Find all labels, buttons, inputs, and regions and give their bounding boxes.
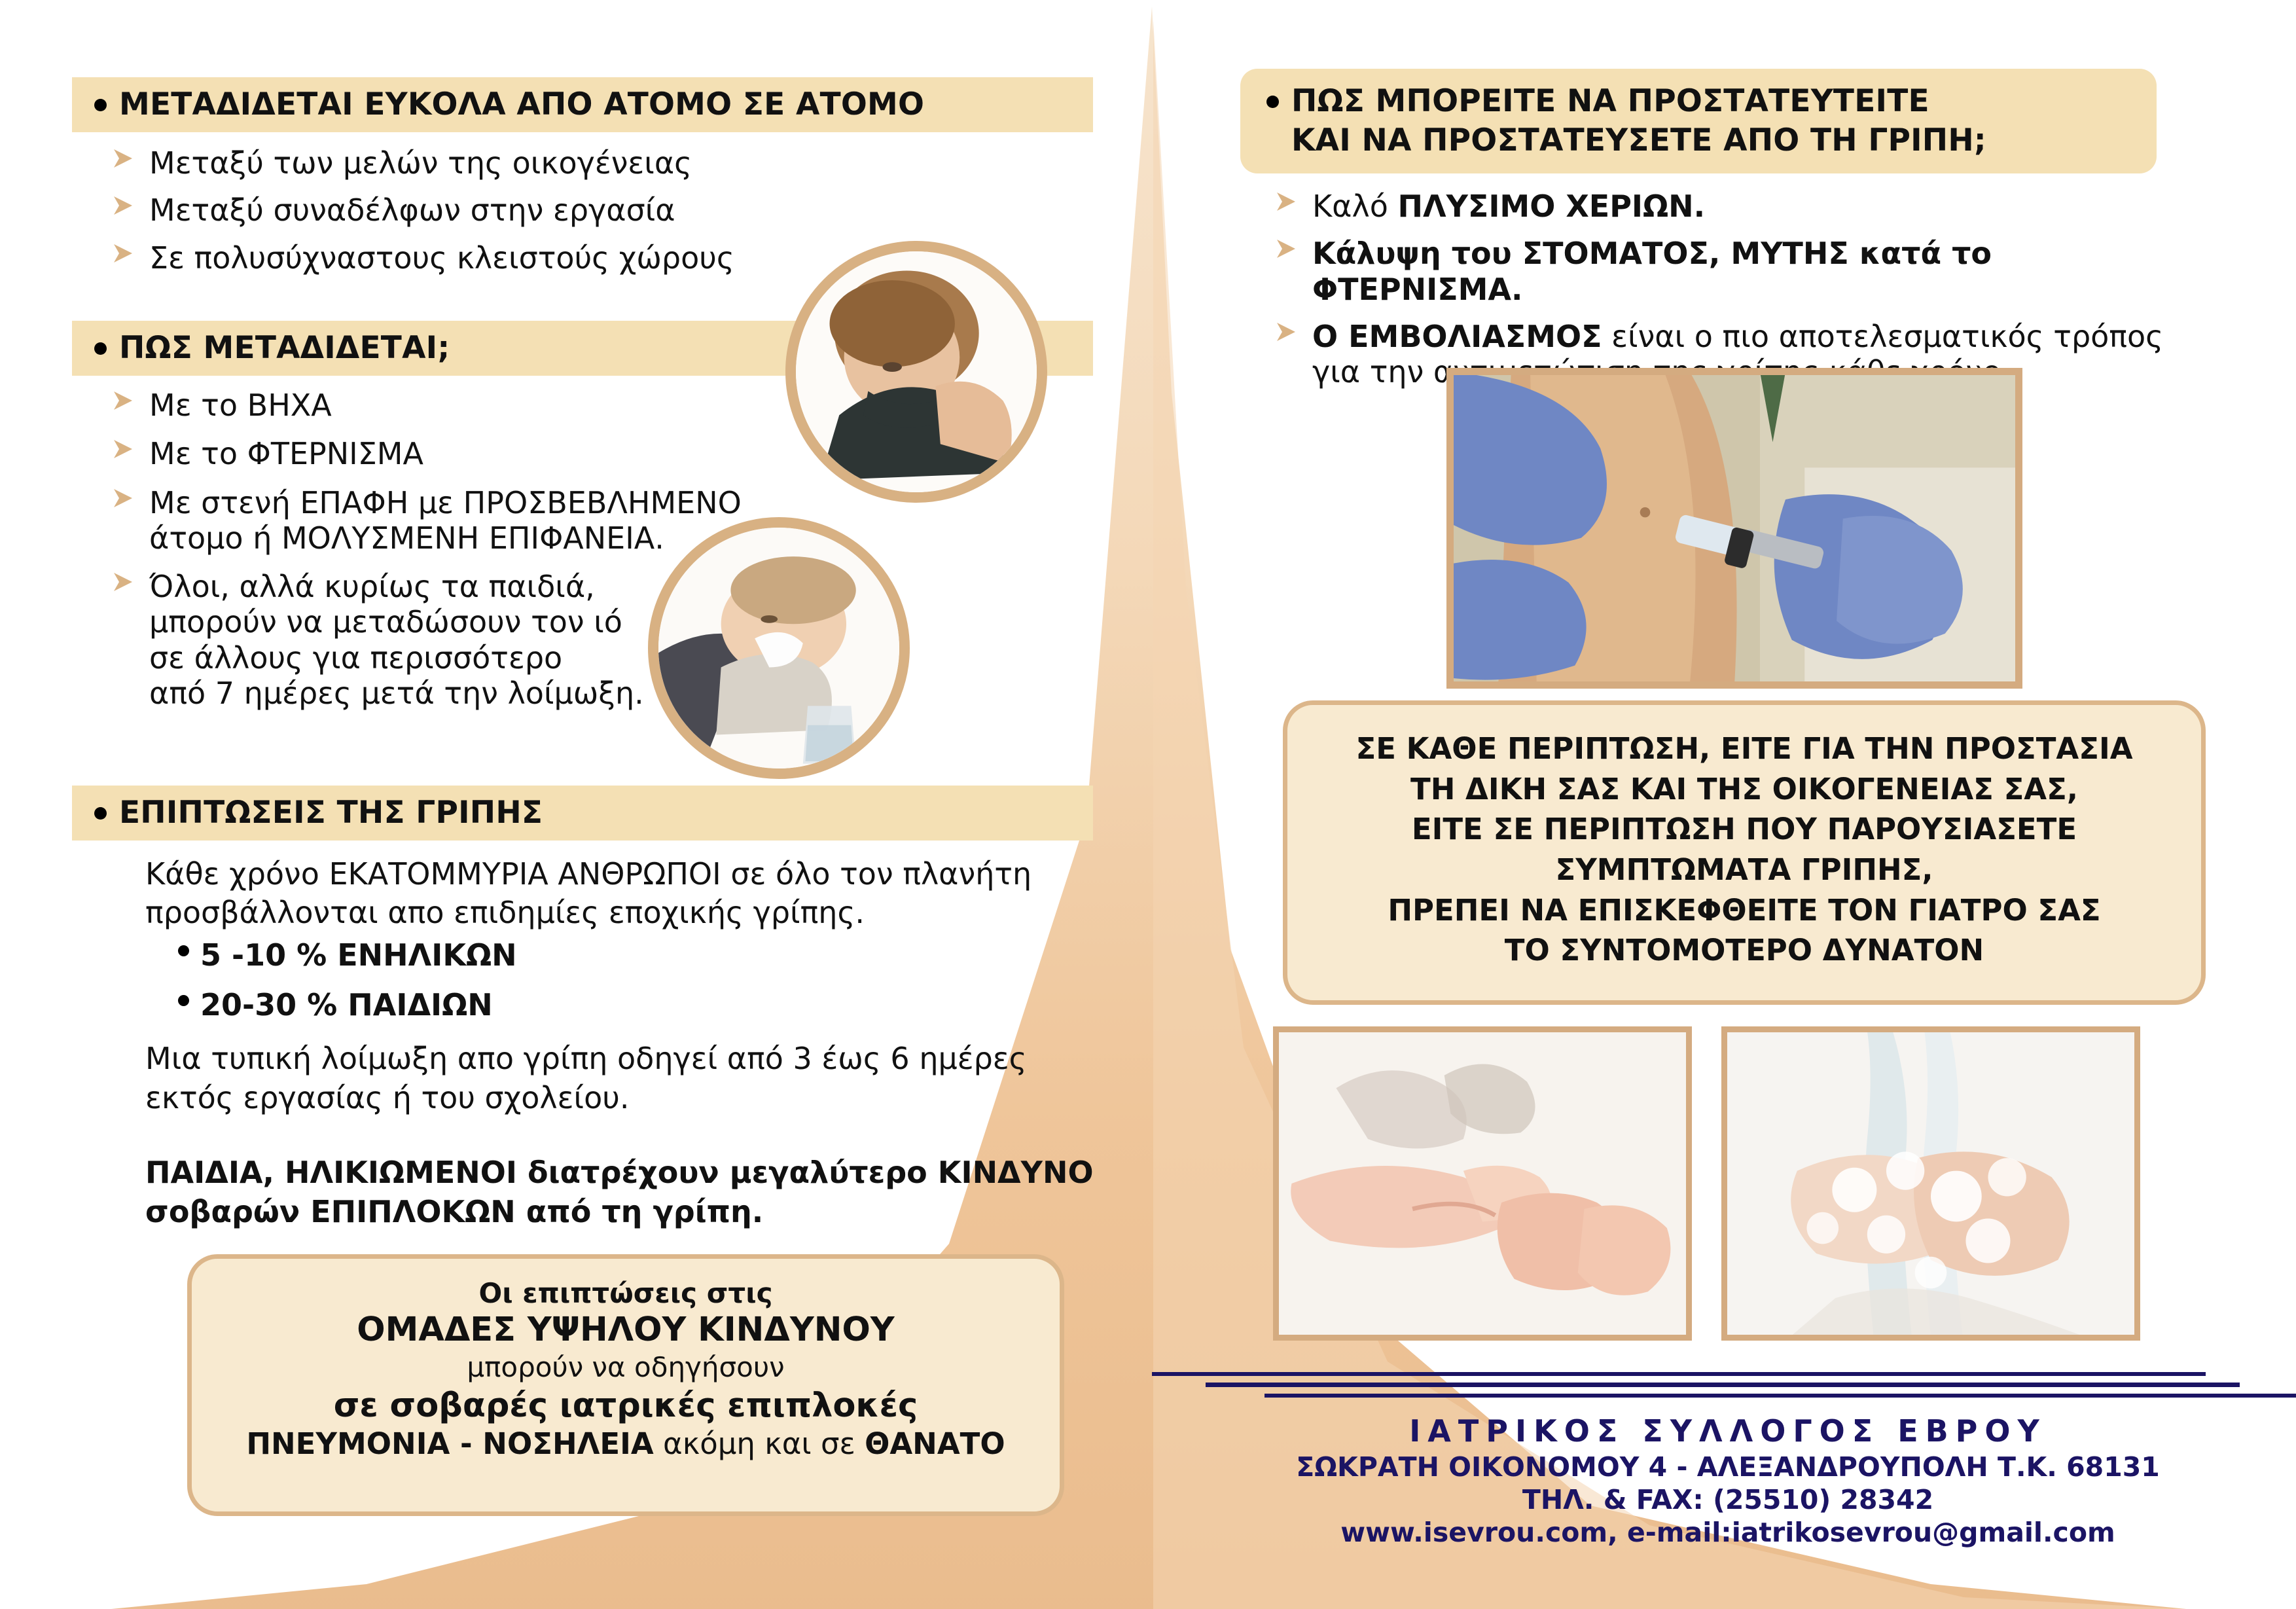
left-column: ΜΕΤΑΔΙΔΕΤΑΙ ΕΥΚΟΛΑ ΑΠΟ ΑΤΟΜΟ ΣΕ ΑΤΟΜΟ Με…	[0, 0, 1152, 1609]
section-header-protection-line-2: ΚΑΙ ΝΑ ΠΡΟΣΤΑΤΕΥΣΕΤΕ ΑΠΟ ΤΗ ΓΡΙΠΗ;	[1291, 122, 1986, 158]
list-item-label: Μεταξύ των μελών της οικογένειας	[149, 145, 692, 181]
risk-box-line-3: μπορούν να οδηγήσουν	[211, 1350, 1040, 1385]
arrow-bullet-icon	[110, 436, 136, 462]
advice-callout-box: ΣΕ ΚΑΘΕ ΠΕΡΙΠΤΩΣΗ, ΕΙΤΕ ΓΙΑ ΤΗΝ ΠΡΟΣΤΑΣΙ…	[1283, 700, 2206, 1005]
list-item-label: Όλοι, αλλά κυρίως τα παιδιά, μπορούν να …	[149, 569, 644, 711]
advice-line-3: ΕΙΤΕ ΣΕ ΠΕΡΙΠΤΩΣΗ ΠΟΥ ΠΑΡΟΥΣΙΑΣΕΤΕ	[1303, 809, 2185, 850]
bullet-dot-icon	[94, 99, 107, 111]
footer-rule-bottom	[1265, 1394, 2296, 1398]
risk-box-line-4: σε σοβαρές ιατρικές επιπλοκές	[211, 1385, 1040, 1426]
list-item: Με το ΒΗΧΑ	[110, 388, 882, 423]
sick-woman-photo	[648, 517, 910, 779]
washing-hands-photo	[1721, 1026, 2140, 1341]
impact-paragraph-2: Μια τυπική λοίμωξη απο γρίπη οδηγεί από …	[145, 1040, 1081, 1118]
footer-contact-block: ΙΑΤΡΙΚΟΣ ΣΥΛΛΟΓΟΣ ΕΒΡΟΥ ΣΩΚΡΑΤΗ ΟΙΚΟΝΟΜΟ…	[1191, 1413, 2265, 1549]
arrow-bullet-icon	[1273, 319, 1299, 345]
transmission-bullet-list: Μεταξύ των μελών της οικογένειας Μεταξύ …	[110, 145, 961, 276]
risk-box-line-5: ΠΝΕΥΜΟΝΙΑ - ΝΟΣΗΛΕΙΑ ακόμη και σε ΘΑΝΑΤΟ	[211, 1426, 1040, 1462]
advice-line-4: ΣΥΜΠΤΩΜΑΤΑ ΓΡΙΠΗΣ,	[1303, 850, 2185, 890]
hands-reaching-photo	[1273, 1026, 1692, 1341]
cough-photo	[785, 241, 1047, 503]
organization-address: ΣΩΚΡΑΤΗ ΟΙΚΟΝΟΜΟΥ 4 - ΑΛΕΞΑΝΔΡΟΥΠΟΛΗ Τ.Κ…	[1191, 1451, 2265, 1483]
impact-stat-children-label: 20-30 % ΠΑΙΔΙΩΝ	[200, 987, 493, 1022]
section-header-impact-label: ΕΠΙΠΤΩΣΕΙΣ ΤΗΣ ΓΡΙΠΗΣ	[119, 797, 543, 829]
risk-box-line-2: ΟΜΑΔΕΣ ΥΨΗΛΟΥ ΚΙΝΔΥΝΟΥ	[211, 1310, 1040, 1350]
bullet-dot-icon	[94, 807, 107, 820]
organization-phone: ΤΗΛ. & FAX: (25510) 28342	[1191, 1483, 2265, 1516]
bullet-dot-icon	[178, 995, 189, 1006]
bullet-dot-icon	[94, 342, 107, 355]
advice-line-1: ΣΕ ΚΑΘΕ ΠΕΡΙΠΤΩΣΗ, ΕΙΤΕ ΓΙΑ ΤΗΝ ΠΡΟΣΤΑΣΙ…	[1303, 729, 2185, 769]
impact-paragraph-1: Κάθε χρόνο ΕΚΑΤΟΜΜΥΡΙΑ ΑΝΘΡΩΠΟΙ σε όλο τ…	[145, 855, 1081, 932]
list-item-label: Μεταξύ συναδέλφων στην εργασία	[149, 192, 675, 228]
cough-photo-image	[796, 251, 1037, 492]
list-item-label-bold: ΠΛΥΣΙΜΟ ΧΕΡΙΩΝ.	[1397, 189, 1705, 224]
right-column: ΠΩΣ ΜΠΟΡΕΙΤΕ ΝΑ ΠΡΟΣΤΑΤΕΥΤΕΙΤΕ ΚΑΙ ΝΑ ΠΡ…	[1152, 0, 2296, 1609]
risk-box-line-1: Οι επιπτώσεις στις	[211, 1277, 1040, 1310]
hands-reaching-photo-image	[1279, 1032, 1686, 1335]
section-header-protection-line-1: ΠΩΣ ΜΠΟΡΕΙΤΕ ΝΑ ΠΡΟΣΤΑΤΕΥΤΕΙΤΕ	[1291, 85, 1929, 118]
list-item: Μεταξύ συναδέλφων στην εργασία	[110, 192, 961, 228]
section-header-impact: ΕΠΙΠΤΩΣΕΙΣ ΤΗΣ ΓΡΙΠΗΣ	[72, 786, 1093, 841]
arrow-bullet-icon	[110, 192, 136, 219]
impact-stat-adults: 5 -10 % ΕΝΗΛΙΚΩΝ	[178, 937, 517, 973]
organization-web[interactable]: www.isevrou.com, e-mail:iatrikosevrou@gm…	[1191, 1516, 2265, 1549]
organization-name: ΙΑΤΡΙΚΟΣ ΣΥΛΛΟΓΟΣ ΕΒΡΟΥ	[1191, 1413, 2265, 1451]
high-risk-callout-box: Οι επιπτώσεις στις ΟΜΑΔΕΣ ΥΨΗΛΟΥ ΚΙΝΔΥΝΟ…	[187, 1254, 1064, 1516]
impact-paragraph-3: ΠΑΙΔΙΑ, ΗΛΙΚΙΩΜΕΝΟΙ διατρέχουν μεγαλύτερ…	[145, 1153, 1101, 1232]
advice-line-2: ΤΗ ΔΙΚΗ ΣΑΣ ΚΑΙ ΤΗΣ ΟΙΚΟΓΕΝΕΙΑΣ ΣΑΣ,	[1303, 769, 2185, 810]
washing-hands-photo-image	[1727, 1032, 2134, 1335]
risk-box-line-5-mid: ακόμη και σε	[654, 1426, 865, 1461]
list-item: Καλό ΠΛΥΣΙΜΟ ΧΕΡΙΩΝ.	[1273, 189, 2209, 224]
section-header-protection: ΠΩΣ ΜΠΟΡΕΙΤΕ ΝΑ ΠΡΟΣΤΑΤΕΥΤΕΙΤΕ ΚΑΙ ΝΑ ΠΡ…	[1240, 69, 2157, 173]
arrow-bullet-icon	[1273, 236, 1299, 262]
advice-line-6: ΤΟ ΣΥΝΤΟΜΟΤΕΡΟ ΔΥΝΑΤΟΝ	[1303, 930, 2185, 971]
list-item-label: Με στενή ΕΠΑΦΗ με ΠΡΟΣΒΕΒΛΗΜΕΝΟ άτομο ή …	[149, 485, 742, 556]
list-item: Μεταξύ των μελών της οικογένειας	[110, 145, 961, 181]
footer-divider	[1152, 1372, 2296, 1396]
footer-rule-top	[1152, 1372, 2206, 1376]
arrow-bullet-icon	[110, 240, 136, 266]
list-item-label: Με το ΦΤΕΡΝΙΣΜΑ	[149, 436, 423, 471]
arrow-bullet-icon	[110, 485, 136, 511]
section-header-how-transmitted-label: ΠΩΣ ΜΕΤΑΔΙΔΕΤΑΙ;	[119, 332, 450, 365]
impact-stat-adults-label: 5 -10 % ΕΝΗΛΙΚΩΝ	[200, 937, 517, 973]
list-item: Με το ΦΤΕΡΝΙΣΜΑ	[110, 436, 882, 471]
impact-stat-children: 20-30 % ΠΑΙΔΙΩΝ	[178, 987, 493, 1022]
advice-line-5: ΠΡΕΠΕΙ ΝΑ ΕΠΙΣΚΕΦΘΕΙΤΕ ΤΟΝ ΓΙΑΤΡΟ ΣΑΣ	[1303, 890, 2185, 931]
list-item-label-bold: Κάλυψη του ΣΤΟΜΑΤΟΣ, ΜΥΤΗΣ κατά το ΦΤΕΡΝ…	[1312, 236, 1992, 306]
arrow-bullet-icon	[110, 145, 136, 172]
risk-box-line-5-bold-b: ΘΑΝΑΤΟ	[865, 1426, 1005, 1461]
risk-box-line-5-bold-a: ΠΝΕΥΜΟΝΙΑ - ΝΟΣΗΛΕΙΑ	[246, 1426, 653, 1461]
list-item: Κάλυψη του ΣΤΟΜΑΤΟΣ, ΜΥΤΗΣ κατά το ΦΤΕΡΝ…	[1273, 236, 2209, 307]
section-header-transmission: ΜΕΤΑΔΙΔΕΤΑΙ ΕΥΚΟΛΑ ΑΠΟ ΑΤΟΜΟ ΣΕ ΑΤΟΜΟ	[72, 77, 1093, 132]
bullet-dot-icon	[1266, 96, 1279, 108]
list-item-label: Με το ΒΗΧΑ	[149, 388, 332, 423]
vaccination-photo	[1446, 368, 2022, 689]
footer-rule-middle	[1206, 1383, 2240, 1387]
section-header-transmission-label: ΜΕΤΑΔΙΔΕΤΑΙ ΕΥΚΟΛΑ ΑΠΟ ΑΤΟΜΟ ΣΕ ΑΤΟΜΟ	[119, 88, 924, 121]
list-item-label-bold: Ο ΕΜΒΟΛΙΑΣΜΟΣ	[1312, 319, 1602, 354]
bullet-dot-icon	[178, 945, 189, 956]
protection-bullet-list: Καλό ΠΛΥΣΙΜΟ ΧΕΡΙΩΝ. Κάλυψη του ΣΤΟΜΑΤΟΣ…	[1273, 189, 2209, 389]
list-item-label: Σε πολυσύχναστους κλειστούς χώρους	[149, 240, 734, 276]
vaccination-photo-image	[1454, 375, 2015, 681]
arrow-bullet-icon	[110, 388, 136, 414]
list-item-label-plain: Καλό	[1312, 189, 1397, 224]
sick-woman-photo-image	[658, 528, 899, 768]
arrow-bullet-icon	[110, 569, 136, 595]
arrow-bullet-icon	[1273, 189, 1299, 215]
